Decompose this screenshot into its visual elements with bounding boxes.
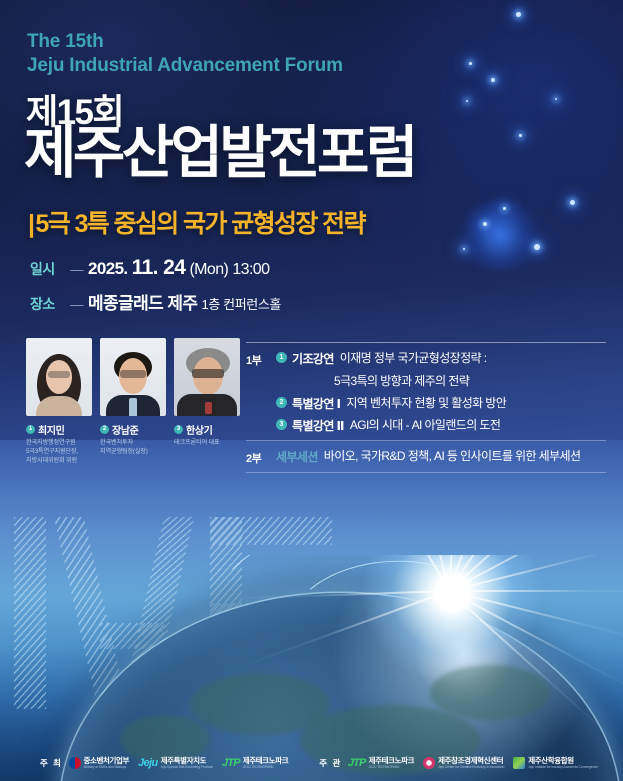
item-title-continuation: 5극3특의 방향과 제주의 전략 bbox=[334, 372, 606, 389]
english-title-line2: Jeju Industrial Advancement Forum bbox=[27, 54, 343, 78]
spark-dot bbox=[534, 244, 540, 250]
event-poster: The 15th Jeju Industrial Advancement For… bbox=[0, 0, 623, 781]
sponsor-name-en: Jeju Institute for Industry-Academia Con… bbox=[528, 765, 597, 769]
speaker-card: 1 최지민 한국지방행정연구원 5극3특연구지원단장, 지방시대위원회 위원 bbox=[26, 338, 92, 466]
date-label: 일시 bbox=[30, 259, 66, 279]
subtitle-text: 5극 3특 중심의 국가 균형성장 전략 bbox=[35, 210, 365, 238]
part2-label: 2부 bbox=[246, 448, 276, 466]
spark-dot bbox=[516, 12, 521, 17]
accent-shape bbox=[205, 402, 212, 414]
program-item: 1 기조강연 이재명 정부 국가균형성장정략 : bbox=[276, 350, 606, 367]
item-kind: 세부세션 bbox=[276, 448, 318, 465]
place-dash: — bbox=[66, 297, 88, 312]
jccei-emblem-icon bbox=[423, 757, 435, 769]
poster-subtitle: |5극 3특 중심의 국가 균형성장 전략 bbox=[28, 204, 365, 240]
speaker-affiliation: 한국지방행정연구원 5극3특연구지원단장, 지방시대위원회 위원 bbox=[26, 439, 92, 466]
speaker-photo bbox=[26, 338, 92, 416]
sponsor-bar: 주 최 중소벤처기업부 Ministry of SMEs and Startup… bbox=[0, 752, 623, 774]
speaker-name: 최지민 bbox=[38, 422, 64, 437]
spark-dot bbox=[483, 222, 487, 226]
item-kind: 기조강연 bbox=[292, 350, 334, 367]
sponsor-logo-jiiac: 제주산학융합원 Jeju Institute for Industry-Acad… bbox=[513, 757, 597, 769]
sponsor-name-en: JEJU TECHNOPARK bbox=[369, 765, 415, 769]
speaker-number-badge: 1 bbox=[26, 425, 35, 434]
jiiac-emblem-icon bbox=[513, 757, 525, 769]
sponsor-logo-jccei: 제주창조경제혁신센터 Jeju Center for Creative Econ… bbox=[423, 757, 504, 769]
sponsor-name-ko: 제주테크노파크 bbox=[243, 757, 289, 765]
speaker-number-badge: 2 bbox=[100, 425, 109, 434]
date-value: 2025. 11. 24 (Mon) 13:00 bbox=[88, 256, 269, 280]
date-time: 13:00 bbox=[232, 261, 269, 278]
sponsor-logo-jtp-organizer: JTP 제주테크노파크 JEJU TECHNOPARK bbox=[348, 757, 414, 769]
spark-dot bbox=[519, 134, 522, 137]
part1-items: 1 기조강연 이재명 정부 국가균형성장정략 : 5극3특의 방향과 제주의 전… bbox=[276, 350, 606, 434]
speaker-photo bbox=[174, 338, 240, 416]
item-title: 바이오, 국가R&D 정책, AI 등 인사이트를 위한 세부세션 bbox=[324, 448, 581, 465]
speaker-name-row: 2 장남준 bbox=[100, 422, 166, 437]
spark-dot bbox=[463, 248, 465, 250]
program-part2: 2부 세부세션 바이오, 국가R&D 정책, AI 등 인사이트를 위한 세부세… bbox=[246, 441, 606, 472]
english-title: The 15th Jeju Industrial Advancement For… bbox=[27, 30, 343, 78]
spark-dot bbox=[503, 207, 506, 210]
sponsor-name-en: Jeju Center for Creative Economy & Innov… bbox=[438, 765, 504, 769]
date-monthday: 11. 24 bbox=[132, 256, 186, 279]
jtp-wordmark: JTP bbox=[222, 757, 240, 769]
page-title: 제주산업발전포럼 bbox=[24, 125, 415, 182]
subtitle-bar: | bbox=[28, 210, 33, 238]
date-dash: — bbox=[66, 262, 88, 277]
sponsor-logo-jeju: Jeju 제주특별자치도 Jeju Special Self-Governing… bbox=[138, 757, 213, 769]
blue-glow-accent bbox=[455, 200, 545, 270]
part1-label: 1부 bbox=[246, 350, 276, 434]
globe-graphic bbox=[0, 555, 623, 781]
speaker-card: 2 장남준 한국벤처투자 지역균형팀장(실장) bbox=[100, 338, 166, 466]
spark-dot bbox=[466, 100, 468, 102]
program-schedule: 1부 1 기조강연 이재명 정부 국가균형성장정략 : 5극3특의 방향과 제주… bbox=[246, 342, 606, 473]
organizer-label: 주 관 bbox=[319, 757, 342, 769]
place-row: 장소 — 메종글래드 제주 1층 컨퍼런스홀 bbox=[30, 289, 450, 314]
speaker-photo bbox=[100, 338, 166, 416]
divider-bottom bbox=[246, 472, 606, 473]
body-shape bbox=[36, 396, 82, 416]
spark-dot bbox=[570, 200, 575, 205]
speaker-card: 3 한상기 테크프론티어 대표 bbox=[174, 338, 240, 466]
sponsor-name-en: JEJU TECHNOPARK bbox=[243, 765, 289, 769]
speaker-name: 장남준 bbox=[112, 422, 138, 437]
program-part1: 1부 1 기조강연 이재명 정부 국가균형성장정략 : 5극3특의 방향과 제주… bbox=[246, 343, 606, 440]
msme-emblem-icon bbox=[69, 757, 81, 769]
program-item: 3 특별강연 Ⅱ AGI의 시대 - AI 아일랜드의 도전 bbox=[276, 417, 606, 434]
sponsor-name-ko: 제주산학융합원 bbox=[528, 757, 597, 765]
sun-ray bbox=[449, 590, 623, 592]
speaker-list: 1 최지민 한국지방행정연구원 5극3특연구지원단장, 지방시대위원회 위원 2… bbox=[26, 338, 241, 466]
spark-dot bbox=[555, 98, 557, 100]
item-title: AGI의 시대 - AI 아일랜드의 도전 bbox=[350, 417, 500, 434]
event-info: 일시 — 2025. 11. 24 (Mon) 13:00 장소 — 메종글래드… bbox=[30, 256, 450, 323]
sponsor-name-ko: 제주특별자치도 bbox=[161, 757, 213, 765]
speaker-name-row: 1 최지민 bbox=[26, 422, 92, 437]
place-value: 메종글래드 제주 1층 컨퍼런스홀 bbox=[88, 289, 281, 314]
glasses-shape bbox=[120, 370, 146, 378]
item-number-badge: 2 bbox=[276, 397, 287, 408]
program-item: 세부세션 바이오, 국가R&D 정책, AI 등 인사이트를 위한 세부세션 bbox=[276, 448, 606, 465]
place-venue: 메종글래드 제주 bbox=[88, 294, 197, 313]
speaker-photo-row: 1 최지민 한국지방행정연구원 5극3특연구지원단장, 지방시대위원회 위원 2… bbox=[26, 338, 241, 466]
item-title: 지역 벤처투자 현황 및 활성화 방안 bbox=[346, 395, 506, 412]
english-title-line1: The 15th bbox=[27, 30, 343, 54]
item-title: 이재명 정부 국가균형성장정략 : bbox=[340, 350, 487, 367]
speaker-name: 한상기 bbox=[186, 422, 212, 437]
sponsor-logo-msme: 중소벤처기업부 Ministry of SMEs and Startups bbox=[69, 757, 130, 769]
sponsor-name-en: Jeju Special Self-Governing Province bbox=[161, 765, 213, 769]
speaker-affiliation: 한국벤처투자 지역균형팀장(실장) bbox=[100, 439, 166, 457]
item-number-badge: 3 bbox=[276, 419, 287, 430]
part2-items: 세부세션 바이오, 국가R&D 정책, AI 등 인사이트를 위한 세부세션 bbox=[276, 448, 606, 466]
sponsor-logo-jtp-host: JTP 제주테크노파크 JEJU TECHNOPARK bbox=[222, 757, 288, 769]
host-label: 주 최 bbox=[40, 757, 63, 769]
place-label: 장소 bbox=[30, 294, 66, 314]
sponsor-name-ko: 제주창조경제혁신센터 bbox=[438, 757, 504, 765]
place-detail: 1층 컨퍼런스홀 bbox=[202, 297, 281, 312]
sponsor-name-en: Ministry of SMEs and Startups bbox=[84, 765, 130, 769]
item-kind: 특별강연 Ⅰ bbox=[292, 395, 340, 412]
date-row: 일시 — 2025. 11. 24 (Mon) 13:00 bbox=[30, 256, 450, 280]
spark-dot bbox=[491, 78, 495, 82]
spark-dot bbox=[469, 62, 472, 65]
glasses-shape bbox=[192, 369, 224, 378]
jeju-wordmark: Jeju bbox=[138, 757, 158, 769]
speaker-name-row: 3 한상기 bbox=[174, 422, 240, 437]
speaker-affiliation: 테크프론티어 대표 bbox=[174, 439, 240, 448]
glasses-shape bbox=[48, 371, 70, 378]
speaker-number-badge: 3 bbox=[174, 425, 183, 434]
item-kind: 특별강연 Ⅱ bbox=[292, 417, 344, 434]
date-year: 2025. bbox=[88, 259, 128, 278]
jtp-wordmark: JTP bbox=[348, 757, 366, 769]
date-weekday: (Mon) bbox=[189, 261, 228, 278]
program-item: 2 특별강연 Ⅰ 지역 벤처투자 현황 및 활성화 방안 bbox=[276, 395, 606, 412]
sponsor-name-ko: 제주테크노파크 bbox=[369, 757, 415, 765]
sponsor-name-ko: 중소벤처기업부 bbox=[84, 757, 130, 765]
item-number-badge: 1 bbox=[276, 352, 287, 363]
tie-shape bbox=[129, 398, 137, 416]
